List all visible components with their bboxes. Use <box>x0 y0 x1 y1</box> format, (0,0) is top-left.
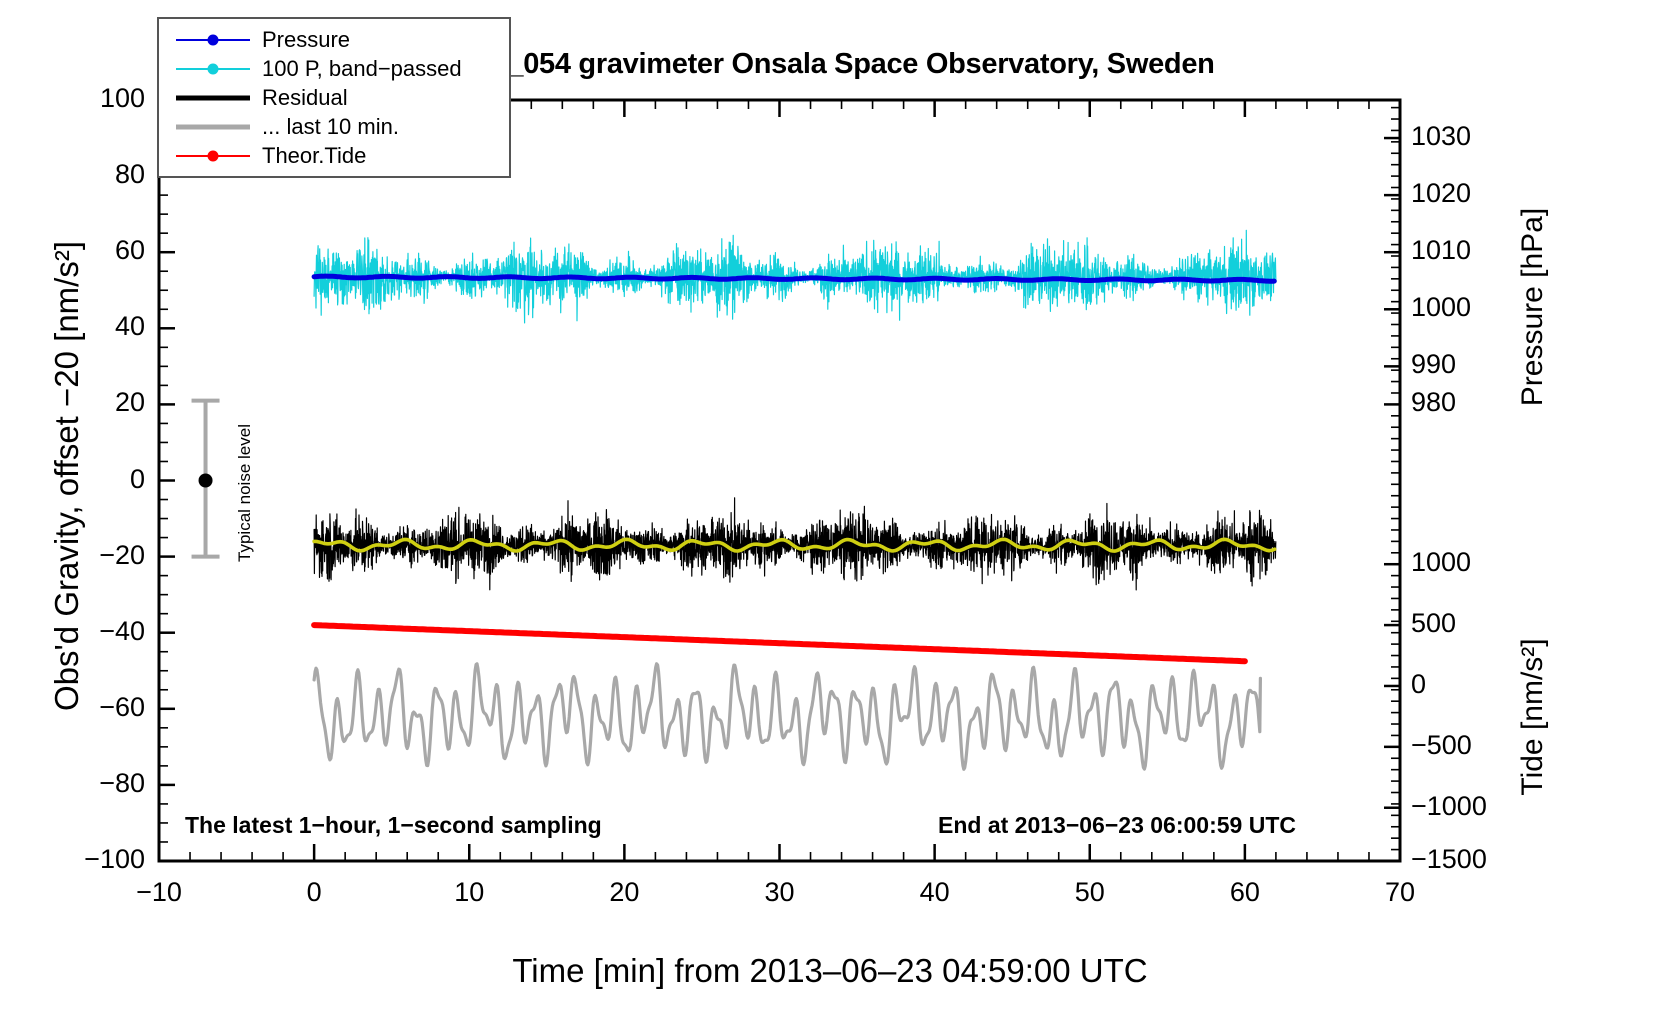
legend-label-last10: ... last 10 min. <box>262 116 399 138</box>
tick-label: −40 <box>20 616 145 647</box>
end-time-note: End at 2013−06−23 06:00:59 UTC <box>938 812 1296 839</box>
tick-label: 0 <box>254 877 374 908</box>
legend-item-bandpassed[interactable]: 100 P, band−passed <box>159 54 509 83</box>
legend-item-pressure[interactable]: Pressure <box>159 25 509 54</box>
tick-label: 60 <box>20 235 145 266</box>
typical-noise-level-errorbar <box>192 401 220 557</box>
series-theor-tide <box>314 625 1245 661</box>
tick-label: −80 <box>20 768 145 799</box>
tick-label: −1000 <box>1411 791 1531 822</box>
tick-label: 50 <box>1030 877 1150 908</box>
legend-label-pressure: Pressure <box>262 29 350 51</box>
tick-label: 20 <box>564 877 684 908</box>
tick-label: 100 <box>20 83 145 114</box>
legend-swatch-pressure <box>176 30 250 50</box>
tick-label: 0 <box>1411 669 1531 700</box>
legend-item-residual[interactable]: Residual <box>159 83 509 112</box>
legend-item-theortide[interactable]: Theor.Tide <box>159 141 509 170</box>
tick-label: 30 <box>720 877 840 908</box>
tick-label: 70 <box>1340 877 1460 908</box>
tick-label: 40 <box>875 877 995 908</box>
series-last-10-min <box>314 664 1260 770</box>
typical-noise-level-label: Typical noise level <box>235 393 255 593</box>
tick-label: 1020 <box>1411 178 1531 209</box>
tick-label: 990 <box>1411 349 1531 380</box>
tick-label: 1000 <box>1411 547 1531 578</box>
chart-canvas: SCG_054 gravimeter Onsala Space Observat… <box>0 0 1660 1020</box>
legend-item-last10[interactable]: ... last 10 min. <box>159 112 509 141</box>
tick-label: 1000 <box>1411 292 1531 323</box>
tick-label: 1030 <box>1411 121 1531 152</box>
sampling-note: The latest 1−hour, 1−second sampling <box>185 812 602 839</box>
tick-label: 80 <box>20 159 145 190</box>
tick-label: 40 <box>20 311 145 342</box>
plot-frame <box>159 100 1400 861</box>
tick-label: −60 <box>20 692 145 723</box>
tick-label: 980 <box>1411 387 1531 418</box>
tick-label: −500 <box>1411 730 1531 761</box>
tick-label: 20 <box>20 387 145 418</box>
legend-swatch-residual <box>176 88 250 108</box>
axis-ticks <box>159 100 1400 861</box>
tick-label: −10 <box>99 877 219 908</box>
tick-label: 60 <box>1185 877 1305 908</box>
tick-label: 1010 <box>1411 235 1531 266</box>
legend-swatch-theortide <box>176 146 250 166</box>
legend-label-theortide: Theor.Tide <box>262 145 366 167</box>
legend[interactable]: Pressure 100 P, band−passed Residual ...… <box>157 17 511 178</box>
tick-label: −100 <box>20 844 145 875</box>
tick-label: −20 <box>20 540 145 571</box>
legend-label-residual: Residual <box>262 87 348 109</box>
tick-label: −1500 <box>1411 844 1531 875</box>
tick-label: 0 <box>20 464 145 495</box>
legend-label-bandpassed: 100 P, band−passed <box>262 58 462 80</box>
tick-label: 10 <box>409 877 529 908</box>
tick-label: 500 <box>1411 608 1531 639</box>
legend-swatch-last10 <box>176 117 250 137</box>
legend-swatch-bandpassed <box>176 59 250 79</box>
